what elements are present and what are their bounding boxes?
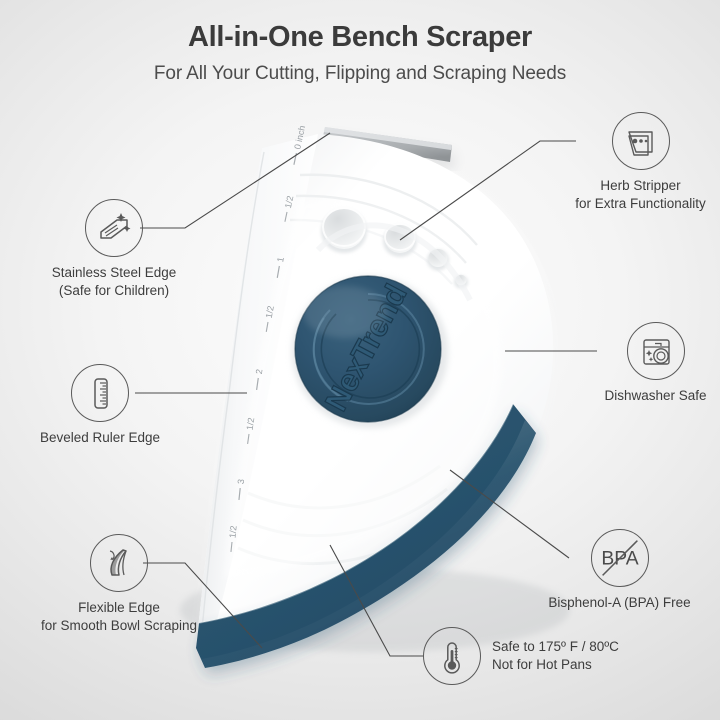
callout-line-2: for Extra Functionality [575,195,706,213]
brand-knob: NexTrend [292,276,448,428]
callout-herb-stripper-text: Herb Stripper for Extra Functionality [575,177,706,213]
callout-bpa-free-text: Bisphenol-A (BPA) Free [548,594,690,612]
callout-line-2: for Smooth Bowl Scraping [41,617,197,635]
callout-heat-safe[interactable]: Safe to 175º F / 80ºC Not for Hot Pans [423,627,619,685]
ruler-icon [71,364,129,422]
callout-flexible-edge-text: Flexible Edge for Smooth Bowl Scraping [41,599,197,635]
callout-line-1: Beveled Ruler Edge [40,429,160,447]
ruler-label-half-4: 1/2 [227,525,238,538]
flexible-blade-icon [90,534,148,592]
ruler-label-half-2: 1/2 [264,305,276,319]
callout-line-1: Stainless Steel Edge [52,264,177,282]
callout-heat-safe-text: Safe to 175º F / 80ºC Not for Hot Pans [492,638,619,674]
callout-stainless-steel-edge[interactable]: Stainless Steel Edge (Safe for Children) [24,199,204,300]
bpa-crossed-icon: BPA [591,529,649,587]
callout-line-1: Herb Stripper [575,177,706,195]
ruler-label-3: 3 [236,479,246,485]
product-infographic: All-in-One Bench Scraper For All Your Cu… [0,0,720,720]
ruler-label-half-3: 1/2 [245,417,257,431]
callout-beveled-ruler-edge[interactable]: Beveled Ruler Edge [36,364,164,447]
callout-dishwasher-safe-text: Dishwasher Safe [604,387,706,405]
thermometer-icon [423,627,481,685]
callout-line-2: Not for Hot Pans [492,656,619,674]
callout-stainless-steel-edge-text: Stainless Steel Edge (Safe for Children) [52,264,177,300]
callout-herb-stripper[interactable]: Herb Stripper for Extra Functionality [561,112,720,213]
callout-flexible-edge[interactable]: Flexible Edge for Smooth Bowl Scraping [24,534,214,635]
blade-sparkle-icon [85,199,143,257]
callout-dishwasher-safe[interactable]: Dishwasher Safe [591,322,720,405]
callout-line-1: Bisphenol-A (BPA) Free [548,594,690,612]
dishwasher-icon [627,322,685,380]
callout-line-1: Safe to 175º F / 80ºC [492,638,619,656]
callout-beveled-ruler-edge-text: Beveled Ruler Edge [40,429,160,447]
callout-line-1: Dishwasher Safe [604,387,706,405]
callout-line-2: (Safe for Children) [52,282,177,300]
herb-stripper-holes-icon [612,112,670,170]
callout-bpa-free[interactable]: BPA Bisphenol-A (BPA) Free [519,529,720,612]
bpa-icon-label: BPA [601,549,638,570]
callout-line-1: Flexible Edge [41,599,197,617]
